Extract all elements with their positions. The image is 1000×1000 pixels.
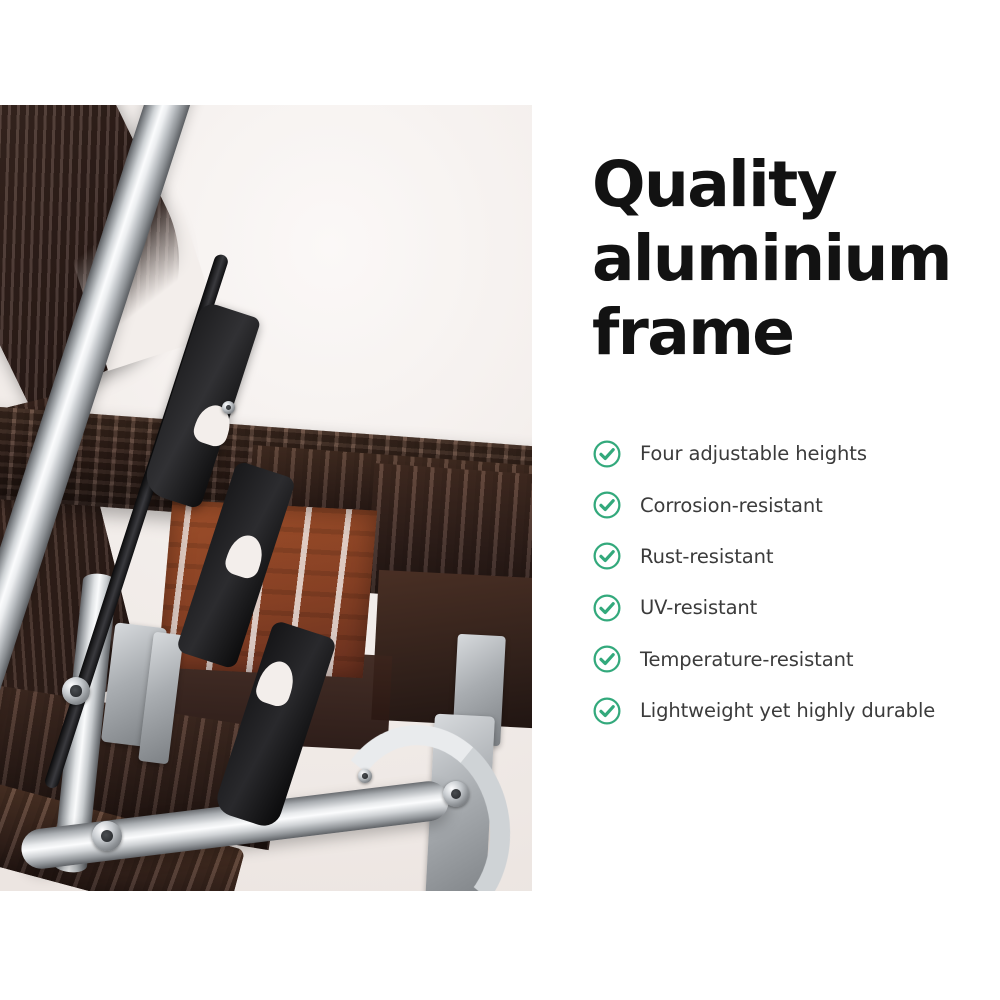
check-circle-icon: [592, 644, 622, 674]
list-item: Corrosion-resistant: [592, 479, 992, 530]
check-circle-icon: [592, 490, 622, 520]
headline-line-3: frame: [592, 296, 992, 370]
feature-label: Corrosion-resistant: [640, 494, 823, 517]
feature-list: Four adjustable heights Corrosion-resist…: [592, 428, 992, 736]
bolt-bracket-upper: [222, 401, 235, 414]
product-feature-banner: Quality aluminium frame Four adjustable …: [0, 0, 1000, 1000]
feature-label: Temperature-resistant: [640, 648, 853, 671]
bolt-left-lower: [92, 821, 122, 851]
copy-panel: Quality aluminium frame Four adjustable …: [592, 0, 992, 1000]
wicker-block-right-lower: [371, 570, 532, 730]
check-circle-icon: [592, 696, 622, 726]
list-item: UV-resistant: [592, 582, 992, 633]
list-item: Temperature-resistant: [592, 634, 992, 685]
feature-label: Rust-resistant: [640, 545, 773, 568]
list-item: Rust-resistant: [592, 531, 992, 582]
feature-label: UV-resistant: [640, 596, 757, 619]
bolt-bracket-lower: [358, 769, 372, 783]
headline-line-2: aluminium: [592, 222, 992, 296]
check-circle-icon: [592, 439, 622, 469]
check-circle-icon: [592, 593, 622, 623]
bolt-left-upper: [62, 677, 90, 705]
bolt-right-upper: [443, 781, 469, 807]
headline-line-1: Quality: [592, 148, 992, 222]
check-circle-icon: [592, 541, 622, 571]
feature-label: Four adjustable heights: [640, 442, 867, 465]
list-item: Four adjustable heights: [592, 428, 992, 479]
product-photo: [0, 105, 532, 891]
feature-label: Lightweight yet highly durable: [640, 699, 935, 722]
list-item: Lightweight yet highly durable: [592, 685, 992, 736]
page-title: Quality aluminium frame: [592, 148, 992, 370]
